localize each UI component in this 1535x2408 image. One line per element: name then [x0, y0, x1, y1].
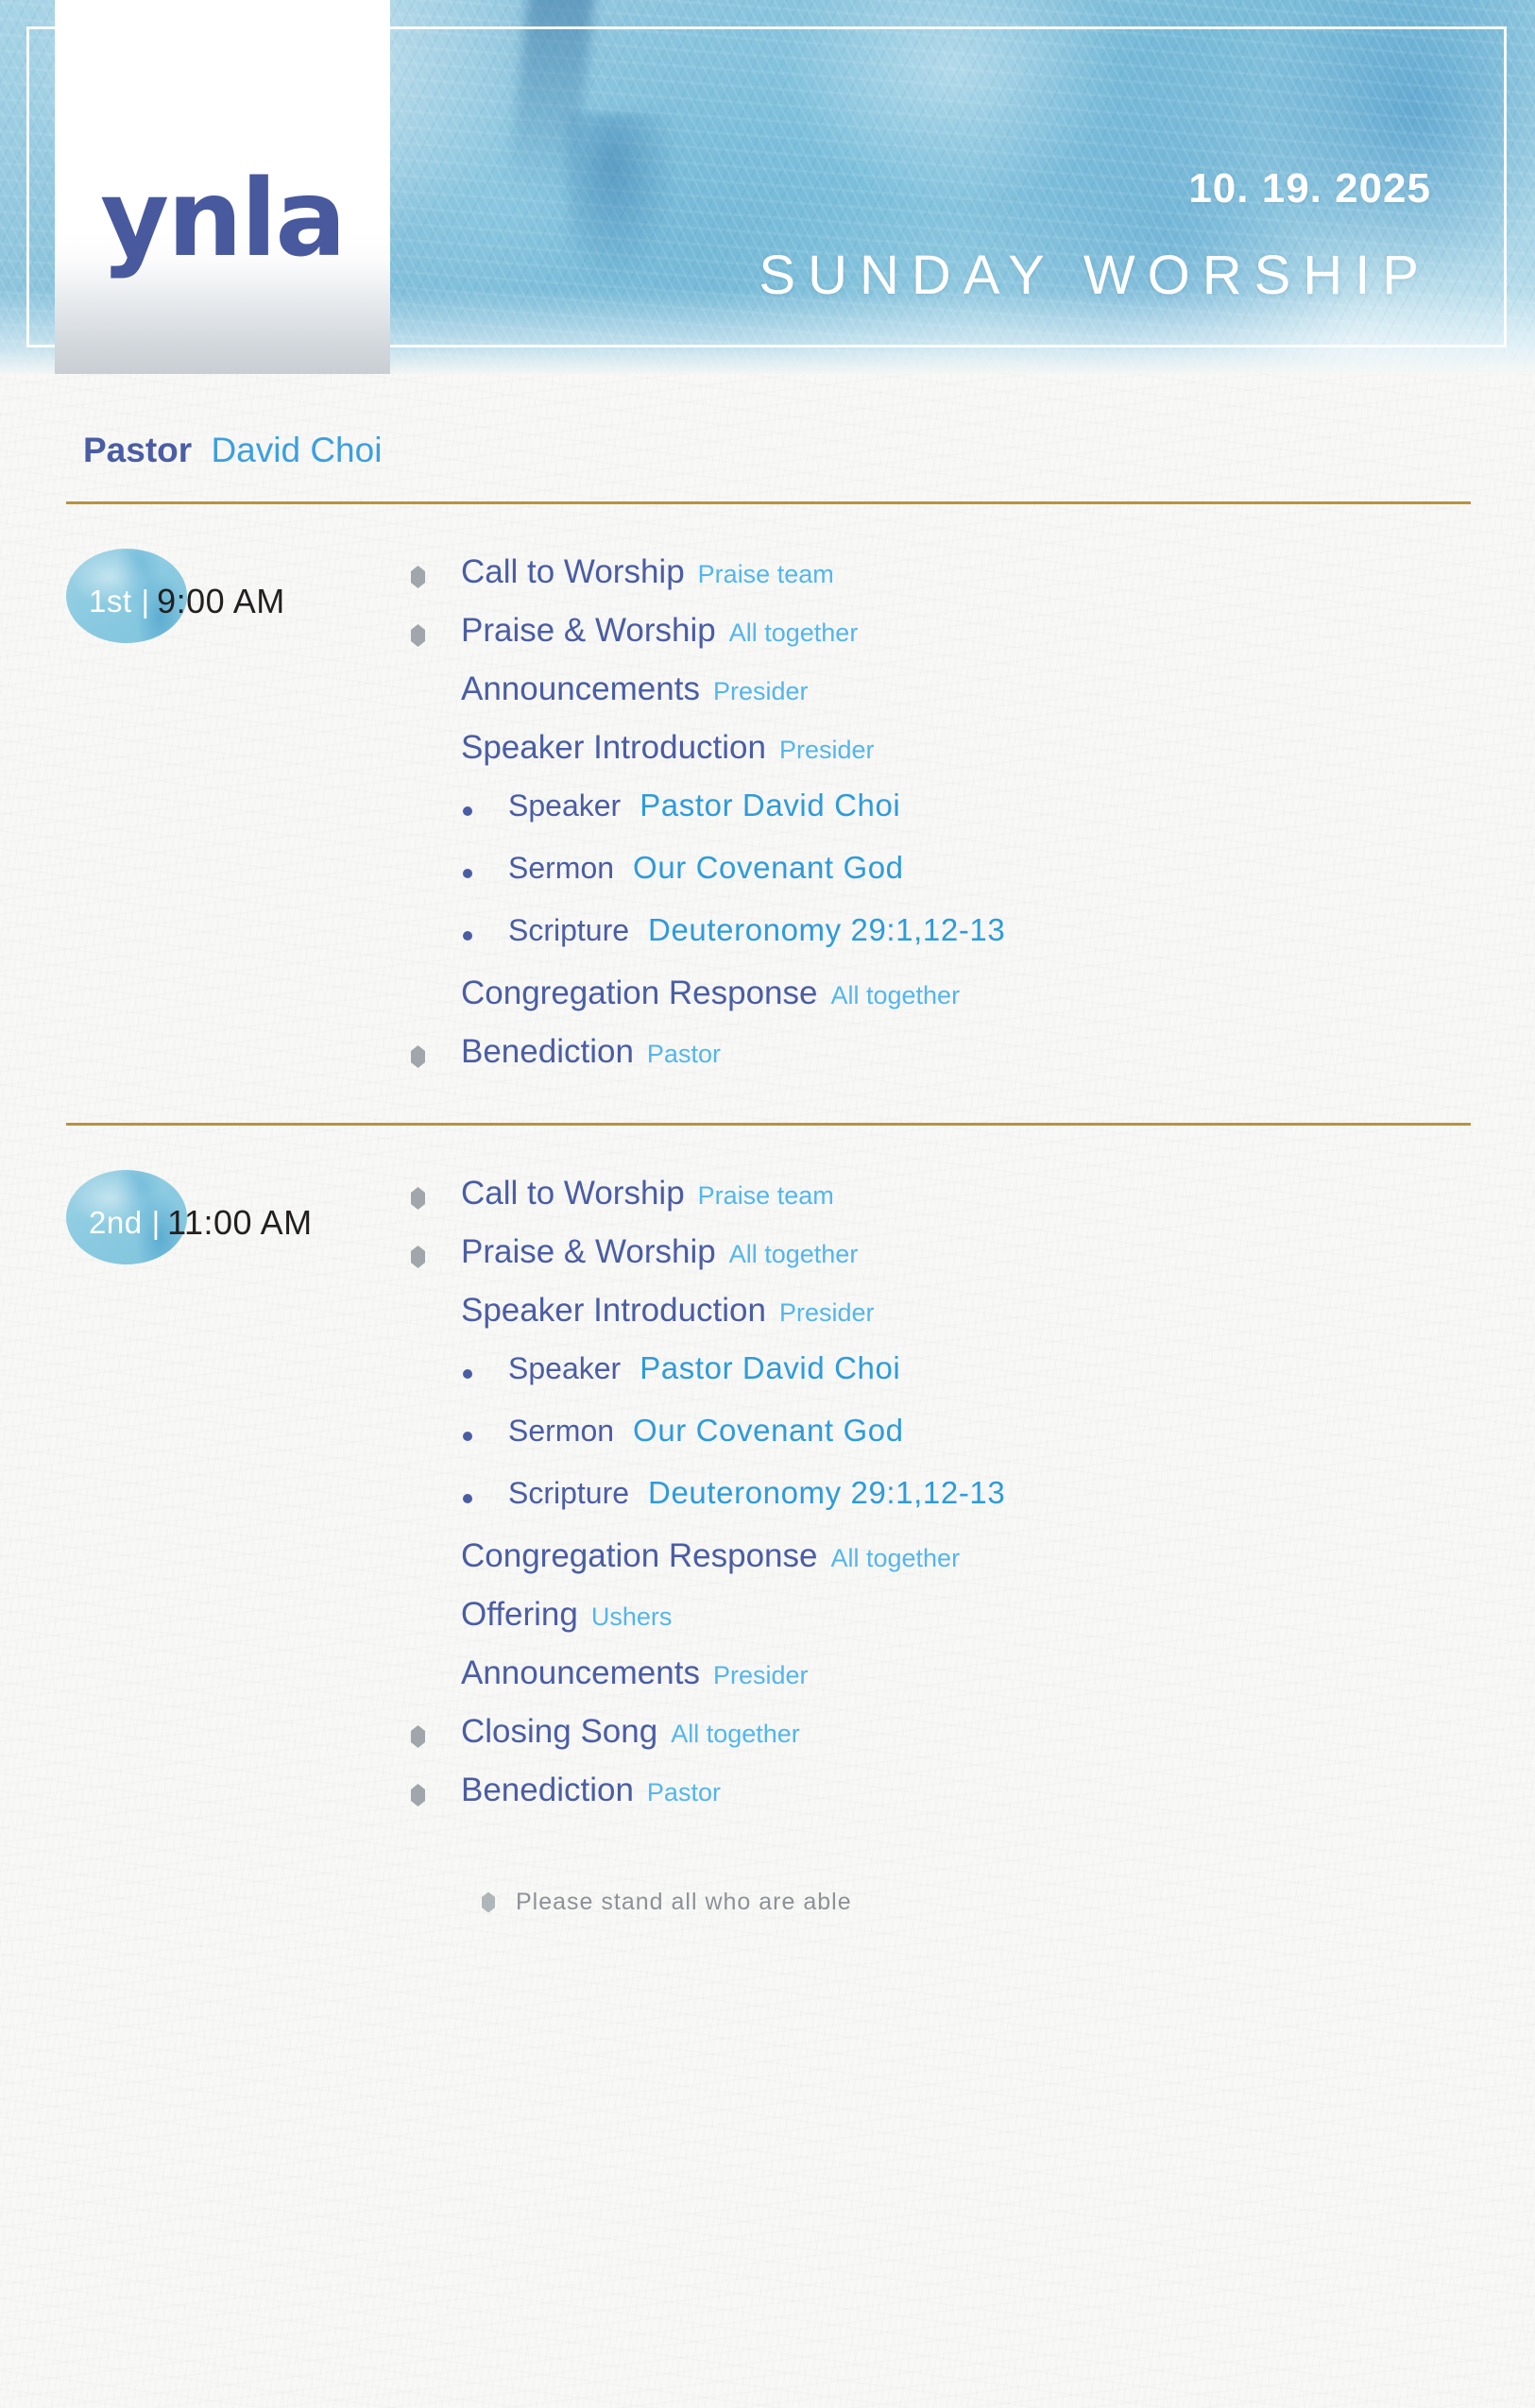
- service-separator: |: [152, 1205, 161, 1241]
- pastor-line: Pastor David Choi: [83, 431, 1535, 470]
- program-item-role: Presider: [713, 1661, 809, 1690]
- program-item-title: Benediction: [461, 1033, 634, 1071]
- program-item-role: All together: [671, 1720, 800, 1749]
- stand-hexagon-icon: [482, 1892, 495, 1913]
- program-item-role: Presider: [713, 677, 809, 706]
- program-sub-label: Scripture: [508, 1476, 629, 1511]
- program-item-title: Announcements: [461, 1654, 700, 1692]
- program-item: Call to WorshipPraise team: [406, 1175, 1478, 1222]
- program-sub-value: Deuteronomy 29:1,12-13: [648, 1475, 1005, 1511]
- program-item: AnnouncementsPresider: [406, 1654, 1478, 1702]
- pastor-label: Pastor: [83, 431, 192, 469]
- program-item-title: Speaker Introduction: [461, 1292, 766, 1330]
- program-item-title: Closing Song: [461, 1713, 657, 1751]
- program-sub-item: ScriptureDeuteronomy 29:1,12-13: [406, 912, 1478, 959]
- service-ordinal: 2nd: [89, 1205, 143, 1241]
- program-sub-value: Our Covenant God: [633, 850, 904, 886]
- bulletin-body: Pastor David Choi 1st|9:00 AMCall to Wor…: [0, 431, 1535, 1916]
- program-item-role: Pastor: [647, 1040, 721, 1069]
- pastor-name: David Choi: [201, 431, 382, 469]
- stand-footnote-text: Please stand all who are able: [516, 1889, 852, 1916]
- service-time: 11:00 AM: [167, 1203, 312, 1243]
- service-block: 1st|9:00 AMCall to WorshipPraise teamPra…: [0, 504, 1535, 1092]
- program-sub-value: Our Covenant God: [633, 1413, 904, 1449]
- program-item: BenedictionPastor: [406, 1772, 1478, 1819]
- page-title: SUNDAY WORSHIP: [759, 244, 1431, 307]
- program-item-role: Pastor: [647, 1778, 721, 1807]
- service-time-badge: 2nd|11:00 AM: [66, 1184, 406, 1262]
- program-item-role: Presider: [779, 736, 875, 765]
- program-item: BenedictionPastor: [406, 1033, 1478, 1080]
- program-sub-item: ScriptureDeuteronomy 29:1,12-13: [406, 1475, 1478, 1522]
- program-item: Congregation ResponseAll together: [406, 1537, 1478, 1585]
- program-item-title: Offering: [461, 1596, 578, 1634]
- program-item: Congregation ResponseAll together: [406, 975, 1478, 1022]
- program-sub-item: SermonOur Covenant God: [406, 850, 1478, 897]
- program-item-title: Congregation Response: [461, 975, 817, 1012]
- program-item-role: All together: [729, 619, 859, 648]
- service-block: 2nd|11:00 AMCall to WorshipPraise teamPr…: [0, 1126, 1535, 1830]
- program-item-title: Announcements: [461, 670, 700, 708]
- stand-hexagon-icon: [411, 1045, 425, 1068]
- program-item: Speaker IntroductionPresider: [406, 1292, 1478, 1339]
- program-sub-value: Pastor David Choi: [640, 788, 900, 823]
- service-program-list: Call to WorshipPraise teamPraise & Worsh…: [406, 553, 1535, 1092]
- program-item-title: Speaker Introduction: [461, 729, 766, 767]
- program-item: AnnouncementsPresider: [406, 670, 1478, 718]
- service-separator: |: [142, 584, 150, 619]
- bullet-dot-icon: [463, 806, 472, 816]
- bullet-dot-icon: [463, 869, 472, 878]
- ynla-logo: ynla: [100, 178, 345, 263]
- page-header: ynla 10. 19. 2025 SUNDAY WORSHIP: [0, 0, 1535, 374]
- services-container: 1st|9:00 AMCall to WorshipPraise teamPra…: [0, 504, 1535, 1830]
- watercolor-streak-secondary: [567, 113, 680, 283]
- program-sub-value: Pastor David Choi: [640, 1350, 900, 1386]
- program-item: Speaker IntroductionPresider: [406, 729, 1478, 776]
- service-time-column: 1st|9:00 AM: [0, 553, 406, 640]
- service-date: 10. 19. 2025: [1188, 165, 1431, 212]
- logo-panel: ynla: [55, 0, 390, 374]
- program-item: Call to WorshipPraise team: [406, 553, 1478, 601]
- stand-hexagon-icon: [411, 624, 425, 647]
- stand-hexagon-icon: [411, 1725, 425, 1748]
- bullet-dot-icon: [463, 1494, 472, 1503]
- service-time-badge: 1st|9:00 AM: [66, 563, 406, 640]
- service-time-column: 2nd|11:00 AM: [0, 1175, 406, 1262]
- stand-footnote: Please stand all who are able: [482, 1889, 1535, 1916]
- service-time: 9:00 AM: [157, 582, 285, 621]
- program-item-title: Benediction: [461, 1772, 634, 1809]
- program-item-role: Ushers: [591, 1603, 673, 1632]
- program-item-title: Praise & Worship: [461, 1233, 716, 1271]
- program-sub-value: Deuteronomy 29:1,12-13: [648, 912, 1005, 948]
- bullet-dot-icon: [463, 1369, 472, 1379]
- program-item-role: All together: [830, 1544, 960, 1573]
- program-sub-label: Scripture: [508, 913, 629, 948]
- program-sub-label: Sermon: [508, 851, 614, 886]
- program-item-role: All together: [830, 981, 960, 1010]
- program-item-title: Praise & Worship: [461, 612, 716, 650]
- program-item-role: All together: [729, 1240, 859, 1269]
- program-item: Closing SongAll together: [406, 1713, 1478, 1760]
- service-ordinal: 1st: [89, 584, 132, 619]
- program-item-role: Praise team: [698, 560, 834, 589]
- program-item: Praise & WorshipAll together: [406, 612, 1478, 659]
- program-item-role: Presider: [779, 1298, 875, 1328]
- program-item: OfferingUshers: [406, 1596, 1478, 1643]
- program-sub-label: Speaker: [508, 1351, 621, 1386]
- stand-hexagon-icon: [411, 1784, 425, 1806]
- program-item-title: Congregation Response: [461, 1537, 817, 1575]
- program-sub-label: Sermon: [508, 1414, 614, 1449]
- program-item-role: Praise team: [698, 1181, 834, 1211]
- stand-hexagon-icon: [411, 1246, 425, 1268]
- stand-hexagon-icon: [411, 566, 425, 588]
- program-sub-label: Speaker: [508, 789, 621, 823]
- program-sub-item: SpeakerPastor David Choi: [406, 1350, 1478, 1398]
- stand-hexagon-icon: [411, 1187, 425, 1210]
- program-sub-item: SermonOur Covenant God: [406, 1413, 1478, 1460]
- bullet-dot-icon: [463, 1432, 472, 1441]
- service-program-list: Call to WorshipPraise teamPraise & Worsh…: [406, 1175, 1535, 1830]
- program-item-title: Call to Worship: [461, 1175, 685, 1212]
- program-item-title: Call to Worship: [461, 553, 685, 591]
- program-sub-item: SpeakerPastor David Choi: [406, 788, 1478, 835]
- program-item: Praise & WorshipAll together: [406, 1233, 1478, 1280]
- bullet-dot-icon: [463, 931, 472, 941]
